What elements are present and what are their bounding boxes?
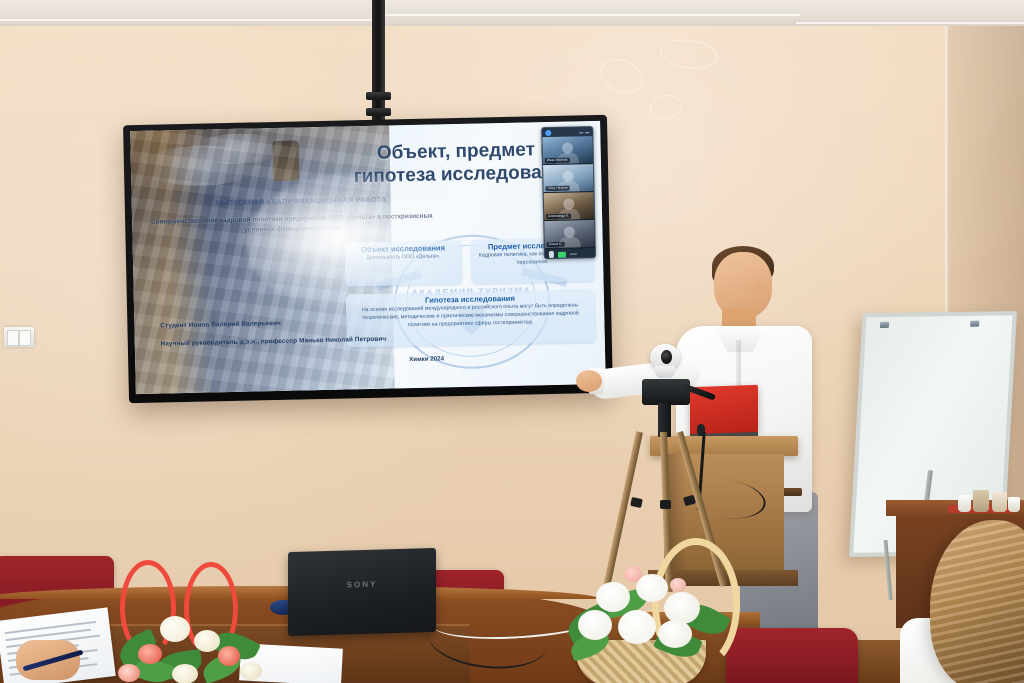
paper-cup [1008, 497, 1020, 512]
flower-bloom [160, 616, 190, 642]
paper-cup [958, 495, 971, 512]
wall-mounted-display[interactable]: ВЫПУСКНАЯ КВАЛИФИКАЦИОННАЯ РАБОТА Соверш… [123, 115, 613, 403]
flower-bloom [658, 620, 692, 648]
vc-participant-name: Ольга С. [547, 241, 565, 246]
vc-participant-tile[interactable]: Пётр Петров [543, 164, 594, 193]
wall-light-switch[interactable] [4, 327, 34, 347]
vc-window-controls[interactable] [579, 130, 589, 134]
flower-bloom [578, 610, 612, 640]
minimize-icon[interactable] [579, 132, 583, 134]
tripod-leg-lock [660, 500, 671, 509]
presentation-slide: ВЫПУСКНАЯ КВАЛИФИКАЦИОННАЯ РАБОТА Соверш… [130, 121, 606, 394]
flower-bloom [172, 664, 198, 683]
webcam-base [655, 366, 675, 378]
red-conference-chair[interactable] [726, 628, 858, 683]
flower-bloom [636, 574, 668, 602]
vc-participant-name: Пётр Петров [545, 185, 569, 191]
conference-room-photo: ВЫПУСКНАЯ КВАЛИФИКАЦИОННАЯ РАБОТА Соверш… [0, 0, 1024, 683]
more-options-icon[interactable] [570, 253, 577, 255]
microphone-icon[interactable] [549, 251, 554, 258]
vc-participant-name: Иван Иванов [545, 157, 570, 163]
video-conference-window[interactable]: Иван Иванов Пётр Петров Александр К. [541, 126, 596, 259]
whiteboard-clip [970, 321, 979, 327]
camera-icon[interactable] [558, 251, 566, 257]
flower-bloom [596, 582, 630, 612]
mount-clamp [366, 92, 391, 100]
flower-bloom [118, 664, 140, 682]
flower-basket-left [110, 560, 270, 683]
flower-bloom [664, 592, 700, 624]
laptop-brand-logo: SONY [347, 580, 378, 590]
flower-bloom [138, 644, 162, 664]
ceiling-seam [0, 19, 380, 21]
photo-ceiling-fan [192, 133, 283, 165]
presenter-hand [576, 370, 602, 392]
flower-bloom [618, 610, 656, 644]
vc-participant-tile[interactable]: Ольга С. [544, 220, 595, 249]
flower-bloom [240, 662, 262, 680]
ceiling-seam [380, 14, 800, 16]
paper-cup [992, 492, 1007, 512]
photo-ceiling-fan [141, 144, 262, 187]
mount-clamp [366, 108, 391, 116]
webcam-lens-icon [661, 350, 672, 364]
display-screen: ВЫПУСКНАЯ КВАЛИФИКАЦИОННАЯ РАБОТА Соверш… [130, 121, 606, 394]
vc-app-logo-icon [545, 129, 551, 135]
tripod-head[interactable] [642, 379, 690, 405]
black-laptop-on-table[interactable]: SONY [288, 548, 436, 636]
paper-cups-stack [958, 486, 1018, 512]
photo-lamp [273, 141, 300, 182]
vc-participant-tile[interactable]: Александр К. [544, 192, 595, 221]
vc-participant-name: Александр К. [546, 213, 571, 219]
vc-participant-tile[interactable]: Иван Иванов [542, 136, 593, 165]
flower-bud [670, 578, 686, 592]
flower-bud [624, 566, 642, 582]
presenter-ear [752, 284, 764, 300]
flower-bloom [194, 630, 220, 652]
flower-basket-center [560, 548, 730, 683]
ceiling-seam [796, 22, 1024, 24]
vc-control-bar[interactable] [545, 248, 595, 259]
whiteboard-clip [880, 322, 889, 328]
paper-cup [973, 490, 989, 512]
flower-bloom [218, 646, 240, 666]
podium-top [650, 436, 798, 456]
maximize-icon[interactable] [585, 132, 589, 134]
